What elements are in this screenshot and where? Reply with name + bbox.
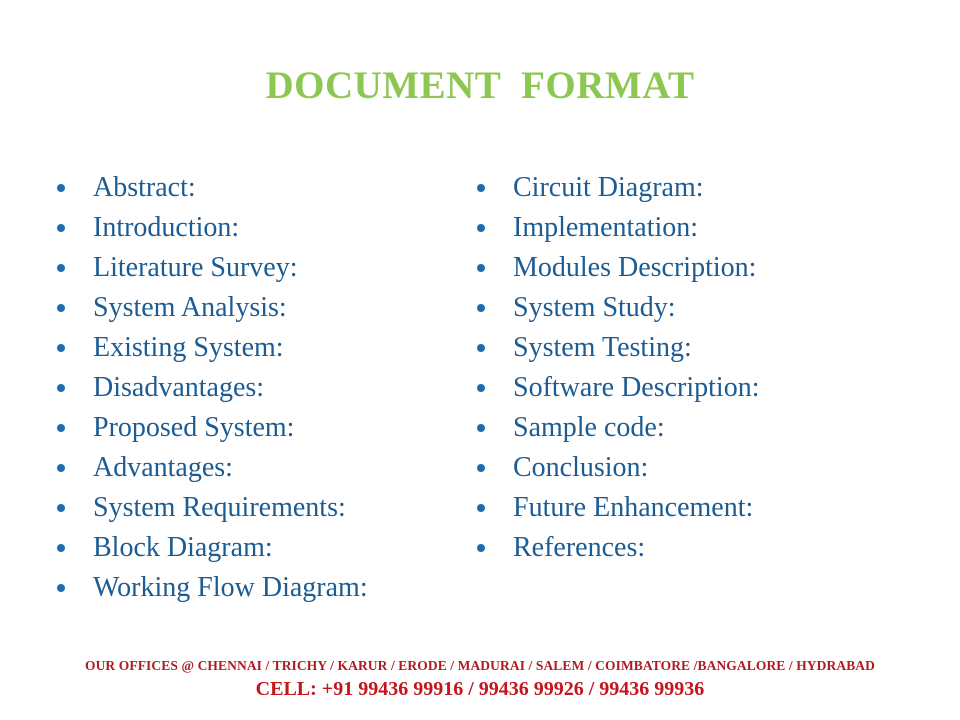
bullet-dot-icon <box>477 224 485 232</box>
bullet-dot-icon <box>477 184 485 192</box>
list-item-label: Future Enhancement: <box>513 488 753 528</box>
list-item[interactable]: Abstract: <box>52 168 452 208</box>
bullet-dot-icon <box>57 504 65 512</box>
list-item-label: Sample code: <box>513 408 665 448</box>
bullet-dot-icon <box>57 184 65 192</box>
list-item[interactable]: References: <box>472 528 892 568</box>
list-item-label: Block Diagram: <box>93 528 273 568</box>
bullet-dot-icon <box>477 544 485 552</box>
list-item-label: Introduction: <box>93 208 239 248</box>
list-item-label: Advantages: <box>93 448 233 488</box>
list-item[interactable]: System Testing: <box>472 328 892 368</box>
list-item-label: Proposed System: <box>93 408 294 448</box>
bullet-dot-icon <box>477 384 485 392</box>
list-item-label: Literature Survey: <box>93 248 297 288</box>
right-bullet-list: Circuit Diagram: Implementation: Modules… <box>472 168 892 568</box>
list-item-label: Disadvantages: <box>93 368 264 408</box>
bullet-dot-icon <box>57 464 65 472</box>
list-item[interactable]: Proposed System: <box>52 408 452 448</box>
left-bullet-list: Abstract: Introduction: Literature Surve… <box>52 168 452 608</box>
list-item-label: Implementation: <box>513 208 698 248</box>
left-column: Abstract: Introduction: Literature Surve… <box>52 168 452 608</box>
list-item[interactable]: Block Diagram: <box>52 528 452 568</box>
list-item-label: Abstract: <box>93 168 196 208</box>
list-item[interactable]: Disadvantages: <box>52 368 452 408</box>
footer-cell-line: CELL: +91 99436 99916 / 99436 99926 / 99… <box>0 676 960 702</box>
bullet-dot-icon <box>57 584 65 592</box>
page-title: DOCUMENT FORMAT <box>0 66 960 107</box>
list-item[interactable]: Conclusion: <box>472 448 892 488</box>
bullet-dot-icon <box>57 424 65 432</box>
bullet-dot-icon <box>57 264 65 272</box>
list-item[interactable]: Software Description: <box>472 368 892 408</box>
list-item-label: Working Flow Diagram: <box>93 568 368 608</box>
list-item[interactable]: Advantages: <box>52 448 452 488</box>
bullet-dot-icon <box>477 424 485 432</box>
list-item[interactable]: System Requirements: <box>52 488 452 528</box>
list-item-label: Circuit Diagram: <box>513 168 704 208</box>
slide-footer: OUR OFFICES @ CHENNAI / TRICHY / KARUR /… <box>0 657 960 702</box>
list-item[interactable]: Literature Survey: <box>52 248 452 288</box>
bullet-dot-icon <box>477 504 485 512</box>
list-item-label: Software Description: <box>513 368 760 408</box>
list-item-label: System Study: <box>513 288 676 328</box>
bullet-dot-icon <box>57 304 65 312</box>
bullet-dot-icon <box>57 224 65 232</box>
bullet-dot-icon <box>57 544 65 552</box>
list-item[interactable]: Existing System: <box>52 328 452 368</box>
bullet-dot-icon <box>477 344 485 352</box>
list-item[interactable]: System Study: <box>472 288 892 328</box>
list-item[interactable]: Sample code: <box>472 408 892 448</box>
list-item[interactable]: Modules Description: <box>472 248 892 288</box>
bullet-dot-icon <box>57 344 65 352</box>
list-item-label: System Requirements: <box>93 488 346 528</box>
list-item[interactable]: Circuit Diagram: <box>472 168 892 208</box>
bullet-dot-icon <box>477 264 485 272</box>
list-item-label: System Testing: <box>513 328 692 368</box>
footer-offices-line: OUR OFFICES @ CHENNAI / TRICHY / KARUR /… <box>0 657 960 675</box>
list-item[interactable]: Implementation: <box>472 208 892 248</box>
list-item-label: Existing System: <box>93 328 284 368</box>
list-item-label: System Analysis: <box>93 288 287 328</box>
list-item[interactable]: Introduction: <box>52 208 452 248</box>
list-item[interactable]: Working Flow Diagram: <box>52 568 452 608</box>
bullet-dot-icon <box>477 304 485 312</box>
list-item-label: Conclusion: <box>513 448 648 488</box>
list-item-label: References: <box>513 528 645 568</box>
bullet-columns: Abstract: Introduction: Literature Surve… <box>0 168 960 618</box>
right-column: Circuit Diagram: Implementation: Modules… <box>472 168 892 568</box>
list-item[interactable]: System Analysis: <box>52 288 452 328</box>
list-item-label: Modules Description: <box>513 248 756 288</box>
bullet-dot-icon <box>57 384 65 392</box>
bullet-dot-icon <box>477 464 485 472</box>
slide-canvas: DOCUMENT FORMAT Abstract: Introduction: … <box>0 0 960 720</box>
list-item[interactable]: Future Enhancement: <box>472 488 892 528</box>
